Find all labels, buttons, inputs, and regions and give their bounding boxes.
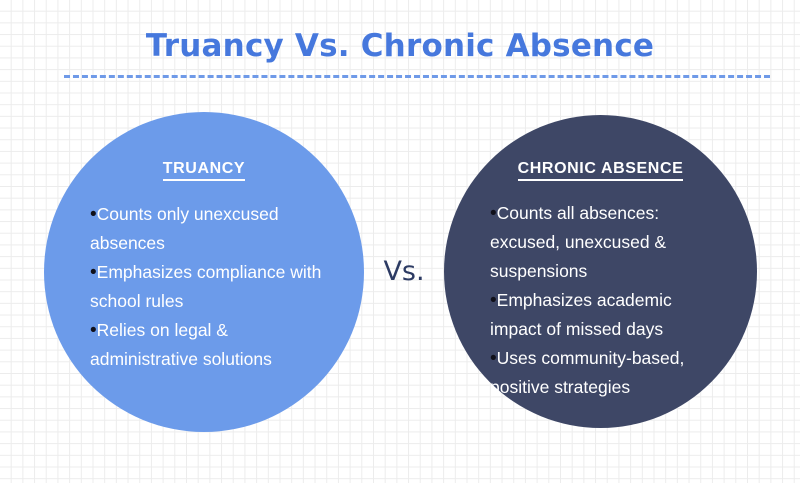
dashed-divider — [64, 75, 770, 78]
bullet-dot-icon: • — [90, 204, 97, 225]
truancy-heading-text: TRUANCY — [163, 160, 245, 181]
list-item-text: Counts only unexcused absences — [90, 204, 279, 253]
bullet-dot-icon: • — [490, 203, 497, 224]
bullet-dot-icon: • — [90, 262, 97, 283]
list-item: •Uses community-based, positive strategi… — [490, 344, 710, 402]
truancy-bullet-list: •Counts only unexcused absences •Emphasi… — [90, 200, 322, 374]
page-title: Truancy Vs. Chronic Absence — [0, 28, 800, 64]
truancy-circle: TRUANCY •Counts only unexcused absences … — [44, 112, 364, 432]
bullet-dot-icon: • — [90, 320, 97, 341]
list-item: •Relies on legal & administrative soluti… — [90, 316, 322, 374]
bullet-dot-icon: • — [490, 290, 497, 311]
bullet-dot-icon: • — [490, 348, 497, 369]
versus-label: Vs. — [368, 256, 440, 287]
infographic-canvas: Truancy Vs. Chronic Absence TRUANCY •Cou… — [0, 0, 800, 483]
list-item-text: Counts all absences: excused, unexcused … — [490, 203, 666, 281]
truancy-heading: TRUANCY — [44, 160, 364, 178]
list-item: •Counts only unexcused absences — [90, 200, 322, 258]
list-item-text: Emphasizes academic impact of missed day… — [490, 290, 672, 339]
list-item-text: Emphasizes compliance with school rules — [90, 262, 321, 311]
list-item: •Emphasizes academic impact of missed da… — [490, 286, 710, 344]
chronic-absence-circle: CHRONIC ABSENCE •Counts all absences: ex… — [444, 115, 757, 428]
list-item: •Emphasizes compliance with school rules — [90, 258, 322, 316]
chronic-absence-bullet-list: •Counts all absences: excused, unexcused… — [490, 199, 710, 402]
list-item-text: Uses community-based, positive strategie… — [490, 348, 684, 397]
chronic-absence-heading-text: CHRONIC ABSENCE — [518, 160, 684, 181]
list-item-text: Relies on legal & administrative solutio… — [90, 320, 272, 369]
list-item: •Counts all absences: excused, unexcused… — [490, 199, 710, 286]
chronic-absence-heading: CHRONIC ABSENCE — [444, 160, 757, 178]
